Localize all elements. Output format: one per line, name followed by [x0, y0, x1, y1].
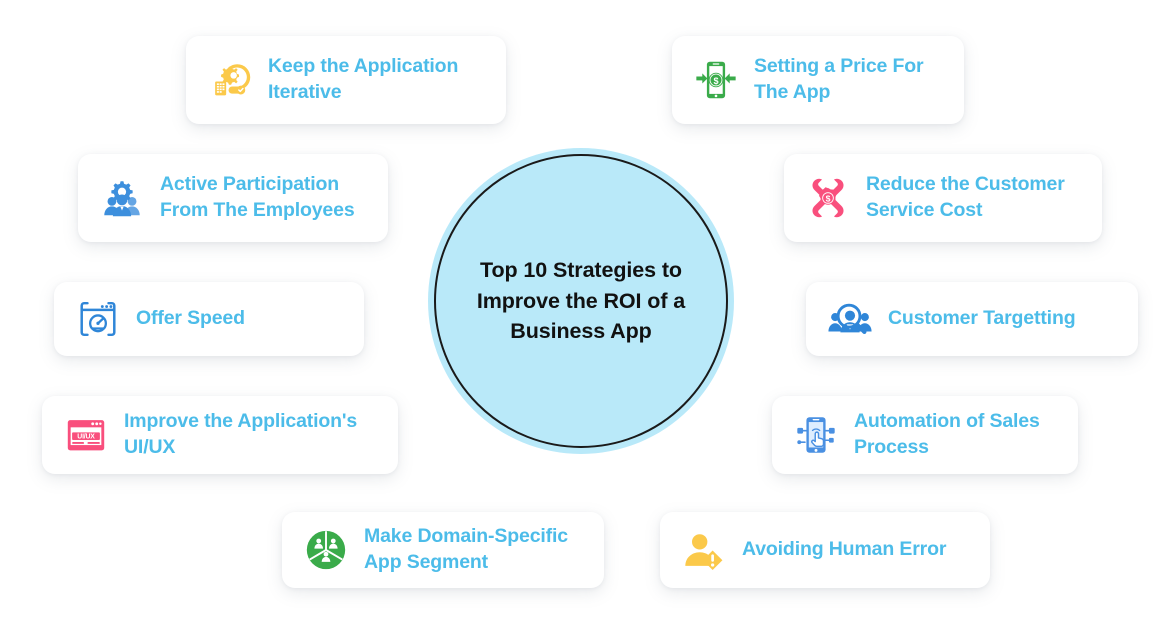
svg-text:$: $ [713, 76, 718, 86]
browser-speedometer-icon [74, 295, 122, 343]
card-offer-speed[interactable]: Offer Speed [54, 282, 364, 356]
card-customer-targetting[interactable]: Customer Targetting [806, 282, 1138, 356]
card-label: Active Participation From The Employees [160, 172, 355, 224]
card-label: Avoiding Human Error [742, 537, 946, 563]
card-label: Keep the Application Iterative [268, 54, 458, 106]
card-label: Make Domain-Specific App Segment [364, 524, 568, 576]
card-label: Automation of Sales Process [854, 409, 1040, 461]
person-warning-icon [680, 526, 728, 574]
card-active-participation-from-the-employees[interactable]: Active Participation From The Employees [78, 154, 388, 242]
svg-text:$: $ [826, 194, 831, 204]
page-title: Top 10 Strategies to Improve the ROI of … [477, 255, 685, 347]
iteration-gear-icon [206, 56, 254, 104]
card-label: Improve the Application's UI/UX [124, 409, 357, 461]
browser-uiux-icon: UI/UX [62, 411, 110, 459]
card-label: Reduce the Customer Service Cost [866, 172, 1065, 224]
card-make-domain-specific-app-segment[interactable]: Make Domain-Specific App Segment [282, 512, 604, 588]
card-automation-of-sales-process[interactable]: Automation of Sales Process [772, 396, 1078, 474]
audience-magnifier-icon [826, 295, 874, 343]
crossed-wrenches-dollar-icon: $ [804, 174, 852, 222]
card-improve-the-applications-ui-ux[interactable]: UI/UX Improve the Application's UI/UX [42, 396, 398, 474]
card-label: Customer Targetting [888, 306, 1075, 332]
card-reduce-the-customer-service-cost[interactable]: $ Reduce the Customer Service Cost [784, 154, 1102, 242]
team-gear-icon [98, 174, 146, 222]
card-label: Setting a Price For The App [754, 54, 923, 106]
card-label: Offer Speed [136, 306, 245, 332]
card-avoiding-human-error[interactable]: Avoiding Human Error [660, 512, 990, 588]
mobile-dollar-icon: $ [692, 56, 740, 104]
svg-text:UI/UX: UI/UX [77, 434, 95, 441]
card-keep-the-application-iterative[interactable]: Keep the Application Iterative [186, 36, 506, 124]
card-setting-a-price-for-the-app[interactable]: $ Setting a Price For The App [672, 36, 964, 124]
infographic-canvas: Top 10 Strategies to Improve the ROI of … [0, 0, 1160, 628]
segmented-audience-icon [302, 526, 350, 574]
center-hub: Top 10 Strategies to Improve the ROI of … [428, 148, 734, 454]
hub-text-wrap: Top 10 Strategies to Improve the ROI of … [428, 148, 734, 454]
mobile-touch-network-icon [792, 411, 840, 459]
